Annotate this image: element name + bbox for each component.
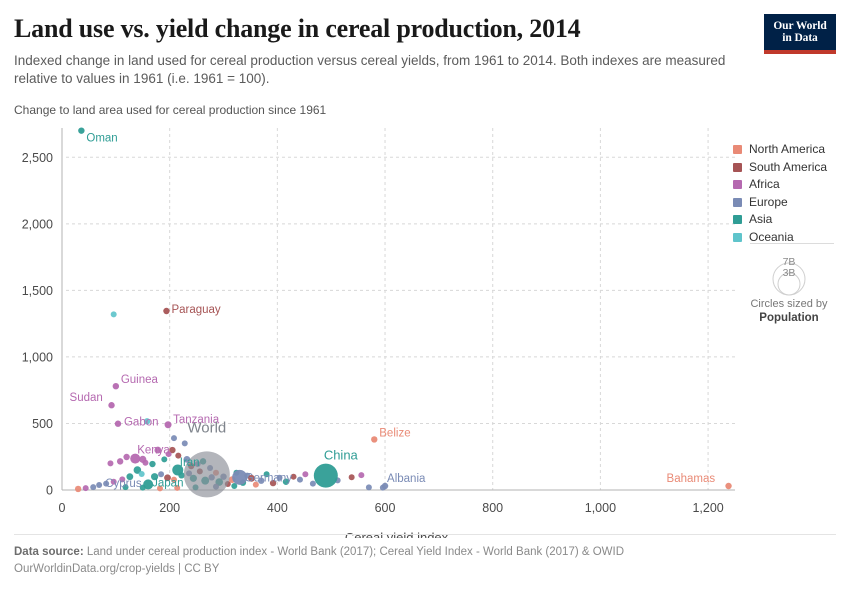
legend-swatch-icon <box>733 145 742 154</box>
x-tick-label: 600 <box>375 501 396 515</box>
data-source-text: Land under cereal production index - Wor… <box>87 546 624 558</box>
legend-swatch-icon <box>733 180 742 189</box>
data-point[interactable] <box>158 471 164 477</box>
data-point[interactable] <box>297 477 303 483</box>
data-point[interactable] <box>161 456 167 462</box>
data-point-oman[interactable] <box>78 127 84 133</box>
data-point[interactable] <box>75 486 81 492</box>
y-axis-note: Change to land area used for cereal prod… <box>14 103 326 117</box>
footer-divider <box>14 534 836 535</box>
x-tick-label: 0 <box>59 501 66 515</box>
data-point-tanzania[interactable] <box>165 421 172 428</box>
legend-item-south-america[interactable]: South America <box>733 161 845 174</box>
data-source-label: Data source: <box>14 546 84 558</box>
legend-swatch-icon <box>733 198 742 207</box>
data-point[interactable] <box>149 461 155 467</box>
data-point[interactable] <box>117 458 123 464</box>
size-legend-circles: 7B 3B <box>759 249 819 297</box>
point-label-cyprus: Cyprus <box>105 478 142 490</box>
chart-page: Land use vs. yield change in cereal prod… <box>0 0 850 600</box>
point-label-iran: Iran <box>180 457 200 469</box>
axis-tick-labels: 05001,0001,5002,0002,50002004006008001,0… <box>22 151 724 515</box>
point-label-oman: Oman <box>86 133 117 145</box>
data-point[interactable] <box>142 460 148 466</box>
y-tick-label: 1,000 <box>22 350 53 364</box>
chart-subtitle: Indexed change in land used for cereal p… <box>14 52 729 88</box>
size-caption-line2: Population <box>733 312 845 325</box>
legend-item-europe[interactable]: Europe <box>733 196 845 209</box>
data-point-sudan[interactable] <box>108 402 114 408</box>
point-label-china: China <box>324 448 359 463</box>
x-tick-label: 1,000 <box>585 501 616 515</box>
data-point-bahamas[interactable] <box>725 483 731 489</box>
legend-item-label: North America <box>749 143 825 156</box>
point-label-bahamas: Bahamas <box>667 473 716 485</box>
point-label-germany: Germany <box>245 472 293 484</box>
legend-item-label: Africa <box>749 178 780 191</box>
data-point-gabon[interactable] <box>115 421 121 427</box>
point-label-world: World <box>187 419 226 436</box>
size-caption-line1: Circles sized by <box>733 298 845 311</box>
point-label-guinea: Guinea <box>121 374 159 386</box>
legend-swatch-icon <box>733 163 742 172</box>
y-tick-label: 0 <box>46 484 53 498</box>
size-label-inner: 3B <box>783 267 796 279</box>
point-label-japan: Japan <box>152 477 183 489</box>
data-point[interactable] <box>358 472 364 478</box>
legend-swatch-icon <box>733 215 742 224</box>
data-point-belize[interactable] <box>371 436 377 442</box>
data-point-paraguay[interactable] <box>163 308 169 314</box>
license-line[interactable]: OurWorldinData.org/crop-yields | CC BY <box>14 561 814 578</box>
data-point[interactable] <box>83 485 89 491</box>
x-tick-label: 400 <box>267 501 288 515</box>
x-tick-label: 1,200 <box>692 501 723 515</box>
data-point[interactable] <box>111 311 117 317</box>
data-point-guinea[interactable] <box>113 383 119 389</box>
owid-logo[interactable]: Our World in Data <box>764 14 836 54</box>
data-point[interactable] <box>182 440 188 446</box>
y-tick-label: 2,000 <box>22 217 53 231</box>
legend-item-label: Oceania <box>749 231 794 244</box>
data-point[interactable] <box>310 481 316 487</box>
point-label-albania: Albania <box>387 473 426 485</box>
point-label-belize: Belize <box>379 427 410 439</box>
point-label-kenya: Kenya <box>137 445 170 457</box>
legend-item-africa[interactable]: Africa <box>733 178 845 191</box>
data-point[interactable] <box>90 484 96 490</box>
owid-logo-line1: Our World <box>773 20 826 33</box>
legend-item-label: South America <box>749 161 827 174</box>
continent-legend[interactable]: North AmericaSouth AmericaAfricaEuropeAs… <box>733 143 845 248</box>
legend-item-north-america[interactable]: North America <box>733 143 845 156</box>
data-point[interactable] <box>349 474 355 480</box>
chart-header: Land use vs. yield change in cereal prod… <box>14 14 744 88</box>
plot-area: OmanParaguayGuineaSudanGabonTanzaniaKeny… <box>0 118 850 538</box>
x-tick-label: 800 <box>482 501 503 515</box>
legend-item-oceania[interactable]: Oceania <box>733 231 845 244</box>
data-point[interactable] <box>123 454 129 460</box>
page-title: Land use vs. yield change in cereal prod… <box>14 14 744 44</box>
legend-divider <box>750 243 834 244</box>
scatter-plot[interactable]: OmanParaguayGuineaSudanGabonTanzaniaKeny… <box>0 118 850 538</box>
point-label-sudan: Sudan <box>70 392 103 404</box>
point-label-paraguay: Paraguay <box>171 304 220 316</box>
data-point[interactable] <box>107 460 113 466</box>
x-tick-label: 200 <box>159 501 180 515</box>
legend-item-label: Asia <box>749 213 772 226</box>
data-point[interactable] <box>302 471 308 477</box>
data-point-china[interactable] <box>314 464 338 488</box>
size-legend: 7B 3B Circles sized by Population <box>733 249 845 325</box>
data-source-line: Data source: Land under cereal productio… <box>14 544 814 561</box>
chart-footer: Data source: Land under cereal productio… <box>14 544 814 578</box>
y-tick-label: 2,500 <box>22 151 53 165</box>
data-point[interactable] <box>366 484 372 490</box>
data-point[interactable] <box>139 471 145 477</box>
y-tick-label: 1,500 <box>22 284 53 298</box>
data-point-cyprus[interactable] <box>96 482 102 488</box>
legend-item-asia[interactable]: Asia <box>733 213 845 226</box>
owid-logo-line2: in Data <box>782 32 817 45</box>
legend-item-label: Europe <box>749 196 788 209</box>
data-point[interactable] <box>171 435 177 441</box>
y-tick-label: 500 <box>32 417 53 431</box>
legend-swatch-icon <box>733 233 742 242</box>
point-label-gabon: Gabon <box>124 417 159 429</box>
